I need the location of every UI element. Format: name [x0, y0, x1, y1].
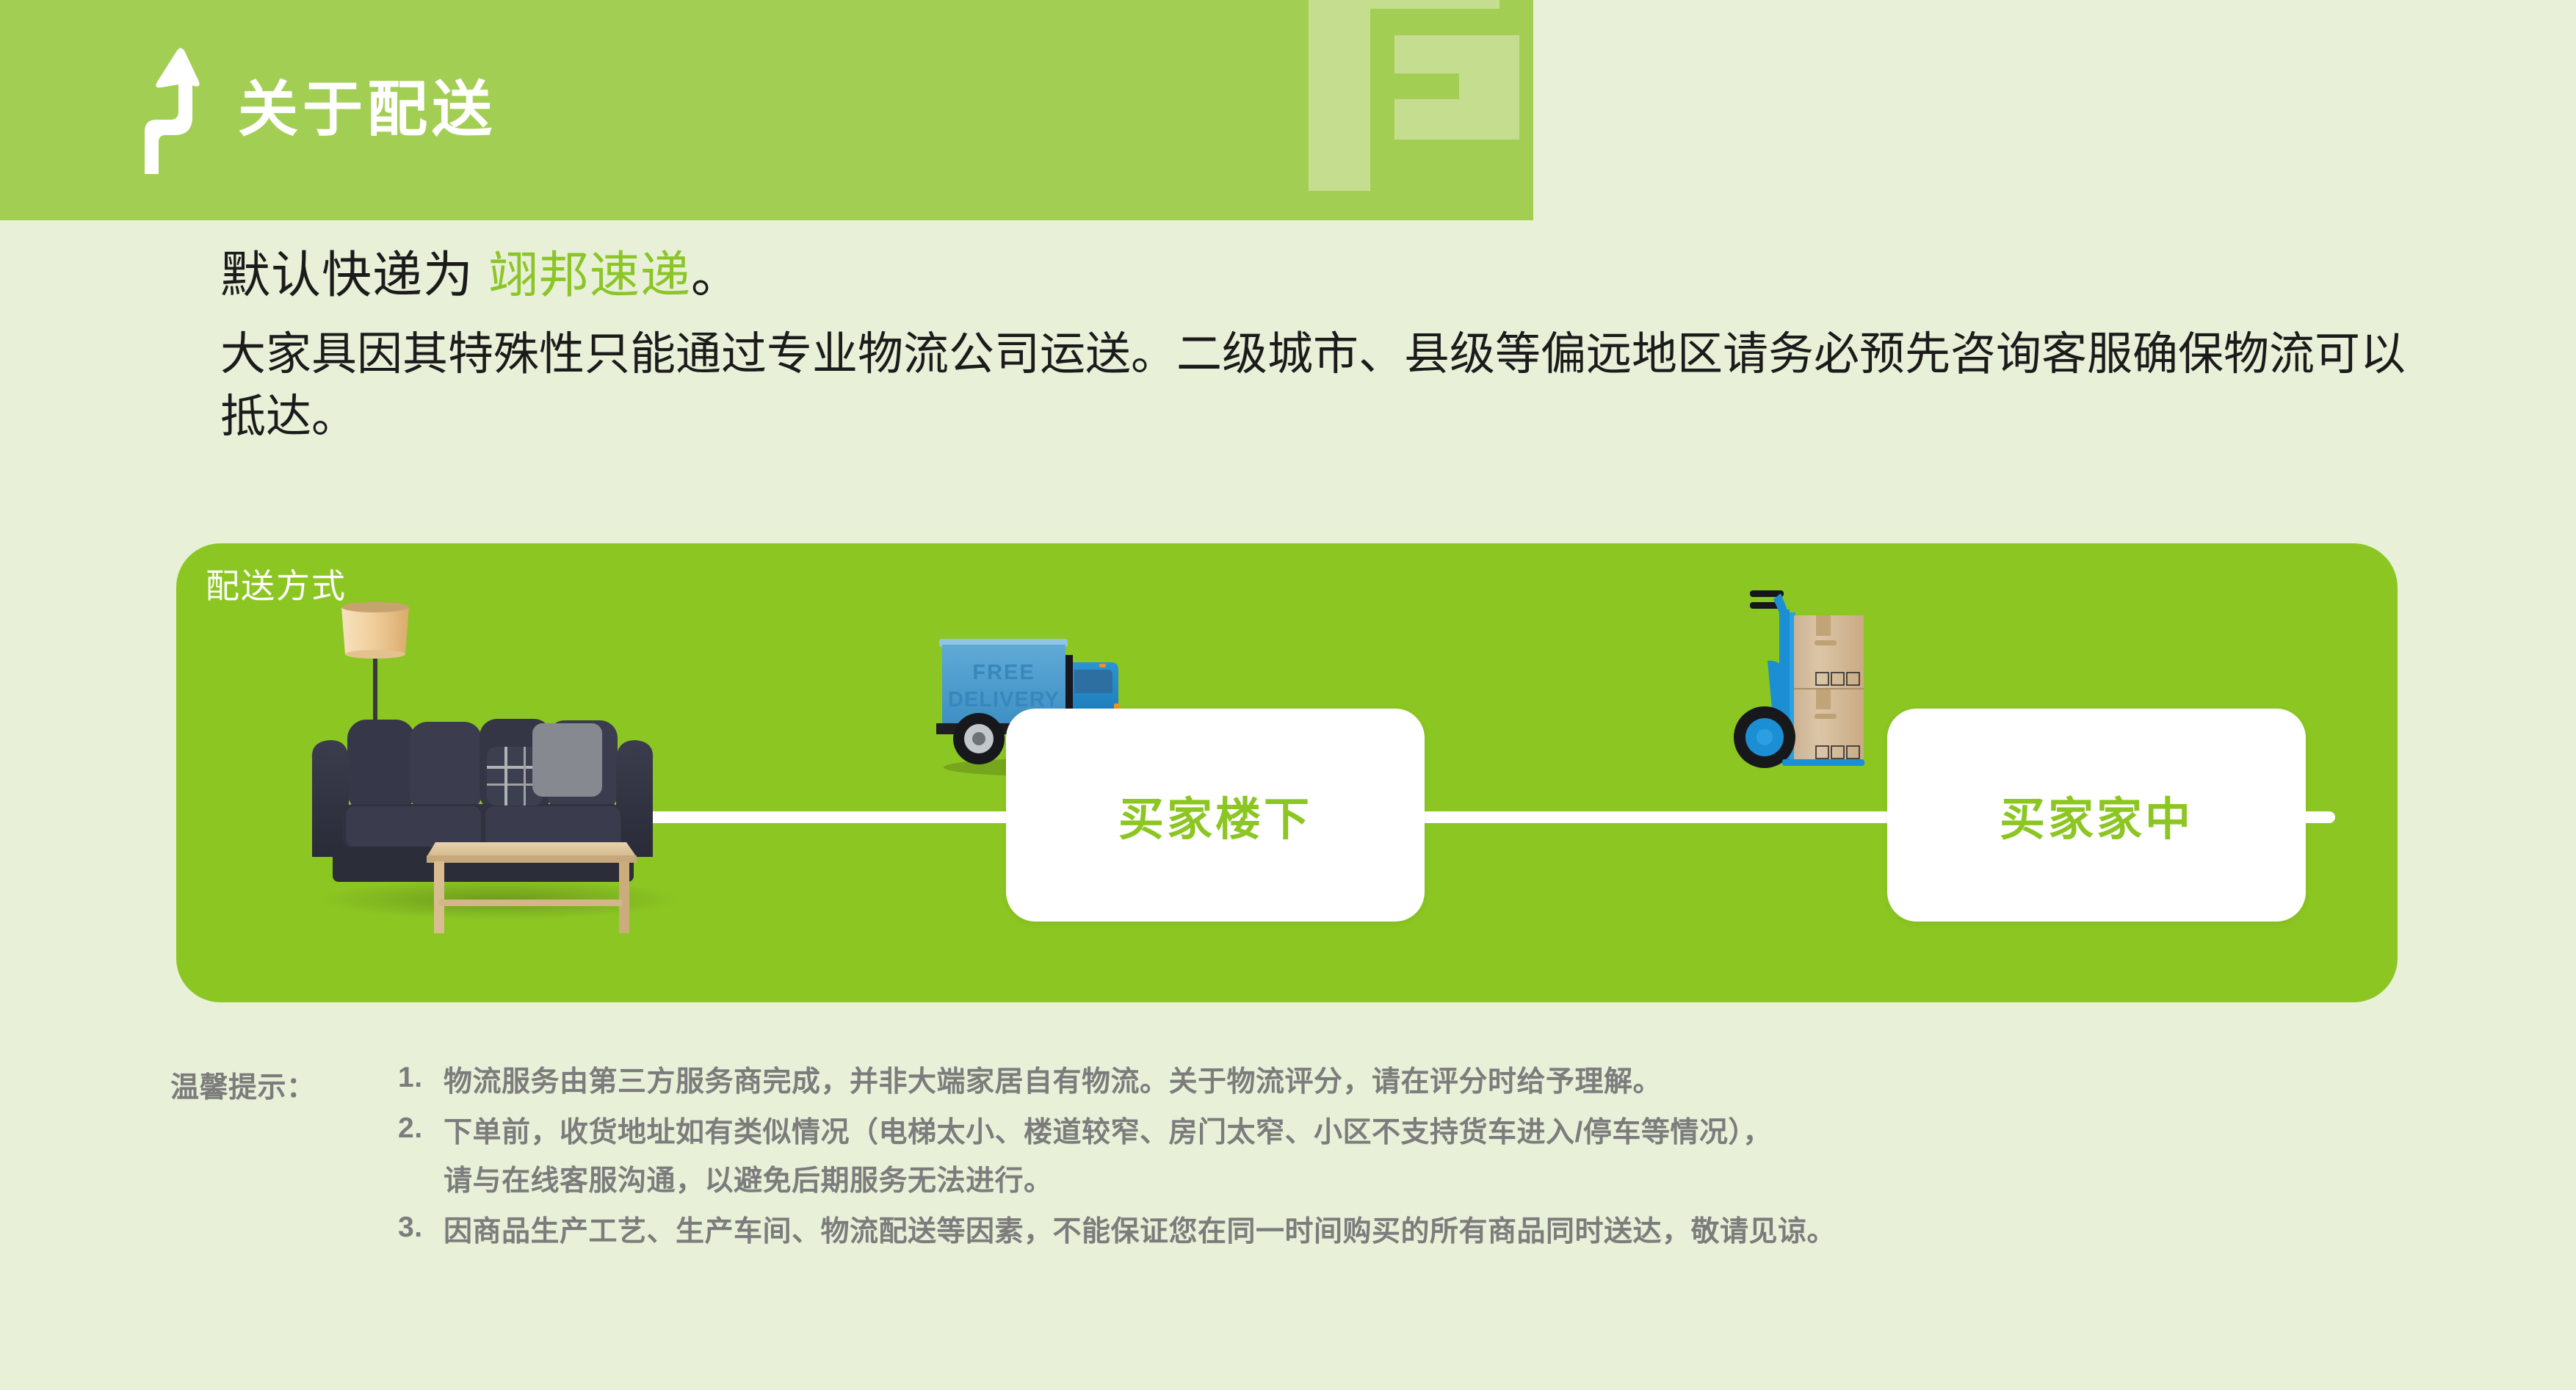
destination-box-downstairs[interactable]: 买家楼下 — [1006, 709, 1425, 922]
note-text-wrapper: 下单前，收货地址如有类似情况（电梯太小、楼道较窄、房门太窄、小区不支持货车进入/… — [444, 1112, 2557, 1201]
large-furniture-note: 大家具因其特殊性只能通过专业物流公司运送。二级城市、县级等偏远地区请务必预先咨询… — [220, 323, 2416, 449]
note-text: 物流服务由第三方服务商完成，并非大端家居自有物流。关于物流评分，请在评分时给予理… — [444, 1062, 2557, 1102]
destination-label-inside-home: 买家家中 — [2000, 782, 2193, 848]
default-courier-suffix: 。 — [691, 247, 742, 303]
warm-tips-heading: 温馨提示： — [170, 1065, 316, 1106]
note-text: 下单前，收货地址如有类似情况（电梯太小、楼道较窄、房门太窄、小区不支持货车进入/… — [444, 1117, 1772, 1148]
page-title: 关于配送 — [238, 80, 496, 140]
warm-tips-section: 温馨提示： 1. 物流服务由第三方服务商完成，并非大端家居自有物流。关于物流评分… — [170, 1062, 2557, 1263]
turn-right-up-arrow-icon — [110, 46, 204, 174]
page-header: 关于配送 — [0, 0, 1533, 220]
note-number: 3. — [398, 1212, 444, 1244]
list-item: 2. 下单前，收货地址如有类似情况（电梯太小、楼道较窄、房门太窄、小区不支持货车… — [398, 1112, 2557, 1201]
delivery-method-card: 配送方式 — [176, 543, 2398, 1002]
list-item: 3. 因商品生产工艺、生产车间、物流配送等因素，不能保证您在同一时间购买的所有商… — [398, 1212, 2557, 1252]
destination-box-inside-home[interactable]: 买家家中 — [1887, 709, 2306, 922]
warm-tips-list: 1. 物流服务由第三方服务商完成，并非大端家居自有物流。关于物流评分，请在评分时… — [398, 1062, 2557, 1253]
default-courier-prefix: 默认快递为 — [220, 247, 488, 303]
list-item: 1. 物流服务由第三方服务商完成，并非大端家居自有物流。关于物流评分，请在评分时… — [398, 1062, 2557, 1102]
courier-brand-name: 翊邦速递 — [488, 247, 691, 303]
truck-free-text: FREE — [972, 661, 1035, 684]
header-decoration — [1291, 0, 1533, 220]
intro-block: 默认快递为 翊邦速递。 大家具因其特殊性只能通过专业物流公司运送。二级城市、县级… — [220, 242, 2482, 449]
header-content: 关于配送 — [0, 0, 496, 220]
note-number: 1. — [398, 1062, 444, 1094]
note-subtext: 请与在线客服沟通，以避免后期服务无法进行。 — [444, 1161, 2557, 1201]
default-courier-line: 默认快递为 翊邦速递。 — [220, 242, 2482, 310]
deco-shape-d — [1394, 73, 1459, 99]
living-room-furniture-illustration — [297, 584, 709, 936]
note-number: 2. — [398, 1112, 444, 1145]
destination-label-downstairs: 买家楼下 — [1118, 782, 1312, 848]
note-text: 因商品生产工艺、生产车间、物流配送等因素，不能保证您在同一时间购买的所有商品同时… — [444, 1212, 2557, 1252]
